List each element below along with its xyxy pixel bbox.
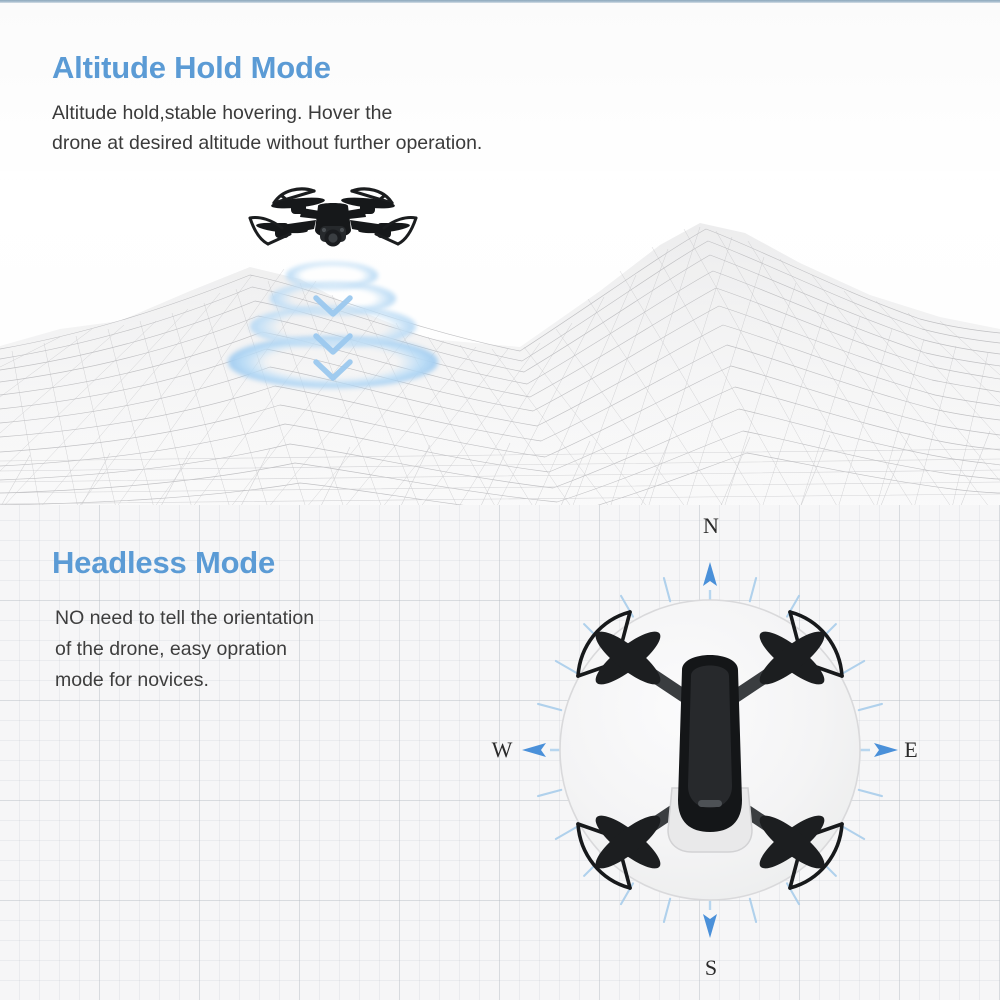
headless-mode-description: NO need to tell the orientation of the d…: [55, 603, 314, 696]
descend-chevrons-icon: [290, 278, 376, 390]
compass-label-south: S: [696, 955, 726, 981]
arrowhead-west: [522, 743, 546, 757]
compass-svg: [460, 500, 960, 1000]
terrain-mesh-svg: [0, 171, 1000, 505]
compass-illustration: [460, 500, 960, 1000]
compass-label-north: N: [696, 513, 726, 539]
arrowhead-north: [703, 562, 717, 586]
arrowhead-east: [874, 743, 898, 757]
section-altitude-hold-mode: Altitude Hold Mode Altitude hold,stable …: [0, 3, 1000, 505]
drone-front-view-icon: [238, 178, 428, 268]
altitude-hold-description: Altitude hold,stable hovering. Hover the…: [52, 98, 482, 158]
top-divider-rule: [0, 0, 1000, 3]
hovering-drone-group: [228, 178, 438, 393]
compass-label-west: W: [487, 737, 517, 763]
wireframe-terrain-illustration: [0, 171, 1000, 505]
altitude-hold-title: Altitude Hold Mode: [52, 50, 331, 86]
headless-mode-title: Headless Mode: [52, 545, 275, 581]
compass-label-east: E: [896, 737, 926, 763]
arrowhead-south: [703, 914, 717, 938]
